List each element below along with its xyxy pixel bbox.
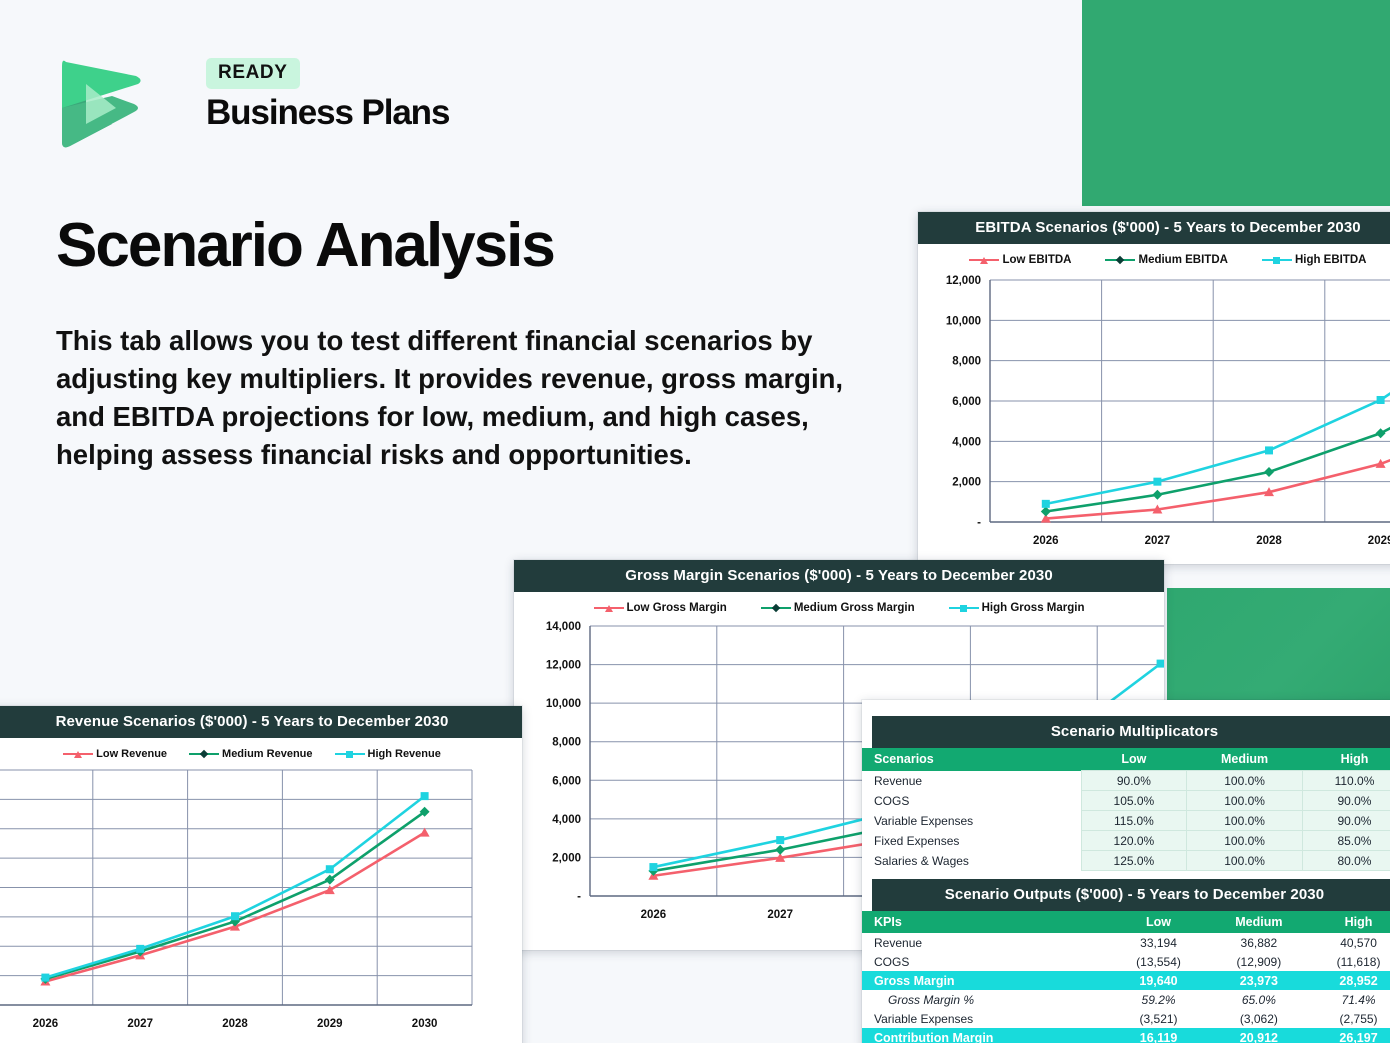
svg-text:2026: 2026	[33, 1018, 59, 1030]
svg-text:12,000: 12,000	[946, 275, 981, 287]
legend-item-low-gross-margin: Low Gross Margin	[594, 602, 727, 614]
cell-high: 80.0%	[1302, 851, 1390, 871]
low-series-swatch-icon	[969, 255, 999, 265]
svg-text:2028: 2028	[222, 1018, 248, 1030]
high-series-swatch-icon	[949, 603, 979, 613]
cell-low: 105.0%	[1081, 791, 1187, 811]
ebitda-chart-legend: Low EBITDA Medium EBITDA High EBITDA	[918, 244, 1390, 268]
table-row: Revenue90.0%100.0%110.0%	[862, 771, 1390, 791]
cell-low: 115.0%	[1081, 811, 1187, 831]
cell-low: 90.0%	[1081, 771, 1187, 791]
col-low: Low	[1109, 911, 1207, 933]
col-medium: Medium	[1187, 748, 1303, 771]
svg-text:8,000: 8,000	[552, 737, 581, 749]
multiplicators-title: Scenario Multiplicators	[872, 716, 1390, 748]
col-low: Low	[1081, 748, 1187, 771]
row-label: COGS	[862, 791, 1081, 811]
col-high: High	[1302, 748, 1390, 771]
cell-low: 19,640	[1109, 971, 1207, 990]
svg-text:2,000: 2,000	[552, 852, 581, 864]
page-title: Scenario Analysis	[56, 210, 554, 281]
svg-text:4,000: 4,000	[952, 436, 981, 448]
col-scenarios: Scenarios	[862, 748, 1081, 771]
decorative-green-block-top	[1082, 0, 1390, 206]
svg-text:-: -	[577, 891, 581, 903]
table-header-row: KPIs Low Medium High	[862, 911, 1390, 933]
table-row: Gross Margin %59.2%65.0%71.4%	[862, 990, 1390, 1009]
ebitda-chart-title: EBITDA Scenarios ($'000) - 5 Years to De…	[918, 212, 1390, 244]
svg-text:4,000: 4,000	[552, 814, 581, 826]
legend-item-low-revenue: Low Revenue	[63, 748, 167, 760]
svg-text:2029: 2029	[317, 1018, 343, 1030]
legend-label: High Revenue	[368, 748, 441, 760]
brand-logo: READY Business Plans	[56, 58, 456, 158]
cell-low: 125.0%	[1081, 851, 1187, 871]
svg-text:-: -	[977, 517, 981, 529]
cell-medium: 100.0%	[1187, 851, 1303, 871]
row-label: Gross Margin	[862, 971, 1109, 990]
cell-low: 16,119	[1109, 1028, 1207, 1043]
revenue-chart-legend: Low Revenue Medium Revenue High Revenue	[0, 738, 522, 762]
legend-label: Low Gross Margin	[627, 602, 727, 614]
svg-text:2026: 2026	[1033, 535, 1059, 547]
row-label: Salaries & Wages	[862, 851, 1081, 871]
cell-high: (11,618)	[1310, 952, 1390, 971]
col-high: High	[1310, 911, 1390, 933]
legend-item-medium-revenue: Medium Revenue	[189, 748, 312, 760]
legend-item-medium-gross-margin: Medium Gross Margin	[761, 602, 915, 614]
table-row: Fixed Expenses120.0%100.0%85.0%	[862, 831, 1390, 851]
cell-high: 26,197	[1310, 1028, 1390, 1043]
cell-high: 28,952	[1310, 971, 1390, 990]
gross-margin-chart-legend: Low Gross Margin Medium Gross Margin Hig…	[514, 592, 1164, 616]
gross-margin-chart-title: Gross Margin Scenarios ($'000) - 5 Years…	[514, 560, 1164, 592]
brand-name: Business Plans	[206, 93, 449, 133]
cell-medium: 100.0%	[1187, 831, 1303, 851]
table-row: Gross Margin19,64023,97328,952	[862, 971, 1390, 990]
cell-low: 59.2%	[1109, 990, 1207, 1009]
row-label: Variable Expenses	[862, 811, 1081, 831]
cell-high: (2,755)	[1310, 1009, 1390, 1028]
cell-low: 33,194	[1109, 933, 1207, 952]
svg-text:10,000: 10,000	[946, 315, 981, 327]
svg-text:12,000: 12,000	[546, 660, 581, 672]
table-row: Variable Expenses115.0%100.0%90.0%	[862, 811, 1390, 831]
revenue-chart-title: Revenue Scenarios ($'000) - 5 Years to D…	[0, 706, 522, 738]
legend-item-high-gross-margin: High Gross Margin	[949, 602, 1085, 614]
row-label: Fixed Expenses	[862, 831, 1081, 851]
legend-item-medium-ebitda: Medium EBITDA	[1105, 254, 1227, 266]
cell-medium: (3,062)	[1208, 1009, 1310, 1028]
ready-badge: READY	[206, 58, 300, 89]
svg-text:2030: 2030	[412, 1018, 438, 1030]
scenario-tables-card: Scenario Multiplicators Scenarios Low Me…	[862, 700, 1390, 1043]
table-row: Salaries & Wages125.0%100.0%80.0%	[862, 851, 1390, 871]
scenario-multiplicators-table: Scenarios Low Medium High Revenue90.0%10…	[862, 748, 1390, 871]
slide-canvas: READY Business Plans Scenario Analysis T…	[0, 0, 1390, 1043]
svg-text:2028: 2028	[1256, 535, 1282, 547]
legend-label: Medium Revenue	[222, 748, 312, 760]
cell-low: (13,554)	[1109, 952, 1207, 971]
high-series-swatch-icon	[1262, 255, 1292, 265]
row-label: Gross Margin %	[862, 990, 1109, 1009]
row-label: Variable Expenses	[862, 1009, 1109, 1028]
cell-medium: 100.0%	[1187, 811, 1303, 831]
svg-text:6,000: 6,000	[552, 775, 581, 787]
svg-text:6,000: 6,000	[952, 396, 981, 408]
low-series-swatch-icon	[63, 749, 93, 759]
table-row: Revenue33,19436,88240,570	[862, 933, 1390, 952]
revenue-chart-card: Revenue Scenarios ($'000) - 5 Years to D…	[0, 706, 522, 1043]
cell-medium: 23,973	[1208, 971, 1310, 990]
medium-series-swatch-icon	[1105, 255, 1135, 265]
svg-text:2026: 2026	[641, 909, 667, 921]
cell-medium: 100.0%	[1187, 791, 1303, 811]
col-medium: Medium	[1208, 911, 1310, 933]
revenue-plot-svg: 20262027202820292030	[0, 762, 522, 1043]
ebitda-chart-card: EBITDA Scenarios ($'000) - 5 Years to De…	[918, 212, 1390, 564]
svg-text:10,000: 10,000	[546, 698, 581, 710]
legend-label: Medium Gross Margin	[794, 602, 915, 614]
legend-label: High EBITDA	[1295, 254, 1367, 266]
table-row: COGS(13,554)(12,909)(11,618)	[862, 952, 1390, 971]
cell-medium: 36,882	[1208, 933, 1310, 952]
cell-high: 110.0%	[1302, 771, 1390, 791]
row-label: Contribution Margin	[862, 1028, 1109, 1043]
cell-high: 90.0%	[1302, 791, 1390, 811]
ebitda-plot-area: -2,0004,0006,0008,00010,00012,0002026202…	[918, 268, 1390, 558]
low-series-swatch-icon	[594, 603, 624, 613]
ebitda-plot-svg: -2,0004,0006,0008,00010,00012,0002026202…	[918, 268, 1390, 558]
table-header-row: Scenarios Low Medium High	[862, 748, 1390, 771]
row-label: Revenue	[862, 771, 1081, 791]
cell-low: (3,521)	[1109, 1009, 1207, 1028]
legend-item-high-ebitda: High EBITDA	[1262, 254, 1367, 266]
cell-high: 71.4%	[1310, 990, 1390, 1009]
cell-high: 90.0%	[1302, 811, 1390, 831]
table-row: Variable Expenses(3,521)(3,062)(2,755)	[862, 1009, 1390, 1028]
legend-label: Low Revenue	[96, 748, 167, 760]
svg-text:8,000: 8,000	[952, 356, 981, 368]
brand-logotype: READY Business Plans	[206, 58, 449, 133]
svg-text:2029: 2029	[1368, 535, 1390, 547]
play-triangle-logo-icon	[56, 58, 142, 150]
medium-series-swatch-icon	[189, 749, 219, 759]
scenario-outputs-table: KPIs Low Medium High Revenue33,19436,882…	[862, 911, 1390, 1043]
col-kpis: KPIs	[862, 911, 1109, 933]
legend-item-high-revenue: High Revenue	[335, 748, 441, 760]
cell-high: 40,570	[1310, 933, 1390, 952]
svg-text:2,000: 2,000	[952, 477, 981, 489]
legend-label: High Gross Margin	[982, 602, 1085, 614]
revenue-plot-area: 20262027202820292030	[0, 762, 522, 1043]
cell-low: 120.0%	[1081, 831, 1187, 851]
svg-text:2027: 2027	[1145, 535, 1171, 547]
high-series-swatch-icon	[335, 749, 365, 759]
svg-text:14,000: 14,000	[546, 621, 581, 633]
cell-high: 85.0%	[1302, 831, 1390, 851]
cell-medium: 65.0%	[1208, 990, 1310, 1009]
table-row: COGS105.0%100.0%90.0%	[862, 791, 1390, 811]
table-row: Contribution Margin16,11920,91226,197	[862, 1028, 1390, 1043]
row-label: Revenue	[862, 933, 1109, 952]
legend-label: Low EBITDA	[1002, 254, 1071, 266]
cell-medium: 100.0%	[1187, 771, 1303, 791]
outputs-title: Scenario Outputs ($'000) - 5 Years to De…	[872, 879, 1390, 911]
decorative-green-block-middle	[1167, 588, 1390, 706]
cell-medium: (12,909)	[1208, 952, 1310, 971]
row-label: COGS	[862, 952, 1109, 971]
svg-text:2027: 2027	[127, 1018, 153, 1030]
legend-item-low-ebitda: Low EBITDA	[969, 254, 1071, 266]
svg-text:2027: 2027	[767, 909, 793, 921]
legend-label: Medium EBITDA	[1138, 254, 1227, 266]
medium-series-swatch-icon	[761, 603, 791, 613]
cell-medium: 20,912	[1208, 1028, 1310, 1043]
page-description: This tab allows you to test different fi…	[56, 322, 856, 474]
